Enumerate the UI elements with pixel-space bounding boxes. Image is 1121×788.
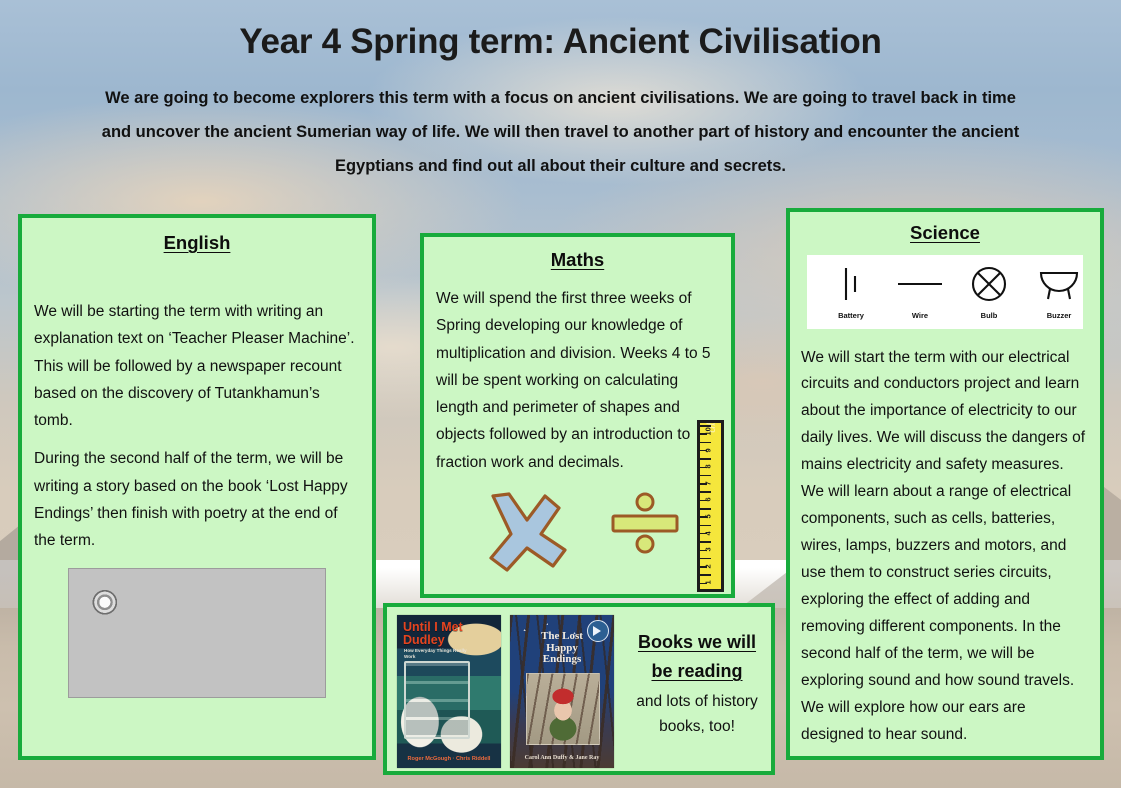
panel-english: English We will be starting the term wit… [18,214,376,760]
poster-header: Year 4 Spring term: Ancient Civilisation… [0,0,1121,183]
ruler-number: 3 [704,548,713,552]
circuit-symbols-diagram: Battery Wire Bulb Buzzer [807,255,1083,329]
panel-science-body: We will start the term with our electric… [801,345,1091,750]
ruler-number: 6 [704,498,713,502]
bulb-label: Bulb [959,311,1019,320]
book-lost-title-the: The [541,630,559,642]
book-lost-title-line3: Endings [543,653,582,665]
ruler-number: 5 [704,514,713,518]
ruler-number: 7 [704,481,713,485]
book-lost-title-line2: Happy [546,642,578,654]
ruler-major-tick [700,475,711,477]
battery-symbol: Battery [821,265,881,308]
panel-english-body: We will be starting the term with writin… [34,298,360,554]
book-lost-title: The Lost Happy Endings [526,631,598,666]
intro-paragraph: We are going to become explorers this te… [96,82,1026,183]
books-subtitle-line2: books, too! [659,718,735,735]
buzzer-symbol: Buzzer [1029,265,1089,308]
ruler-number: 4 [704,531,713,535]
division-icon [609,492,681,554]
book-dudley-authors: Roger McGough · Chris Riddell [397,756,501,762]
books-subtitle: and lots of history books, too! [631,689,763,739]
book-dudley-title: Until I Met Dudley [403,621,495,647]
english-paragraph-1: We will be starting the term with writin… [34,298,360,434]
maths-icon-group [424,468,731,588]
ruler-major-tick [700,508,711,510]
science-paragraph-1: We will start the term with our electric… [801,345,1091,750]
book-lost-illustration [526,673,600,745]
english-paragraph-2: During the second half of the term, we w… [34,445,360,554]
panel-books: Until I Met Dudley How Everyday Things R… [383,603,775,775]
ruler-major-tick [700,491,711,493]
maths-paragraph-1: We will spend the first three weeks of S… [436,285,721,476]
wire-symbol: Wire [890,265,950,308]
page-title: Year 4 Spring term: Ancient Civilisation [0,22,1121,62]
ruler-major-tick [700,541,711,543]
panel-english-title: English [22,232,372,254]
ruler-number: 2 [704,564,713,568]
panel-maths-body: We will spend the first three weeks of S… [436,285,721,476]
multiplication-icon [479,490,567,574]
panel-maths-title: Maths [424,249,731,271]
books-text-block: Books we will be reading and lots of his… [623,615,763,763]
ruler-number: 1 [704,581,713,585]
book-cover-until-i-met-dudley: Until I Met Dudley How Everyday Things R… [397,615,501,768]
book-lost-title-line1: Lost [562,630,583,642]
bulb-symbol: Bulb [959,265,1019,308]
ruler-major-tick [700,525,711,527]
panel-science-title: Science [790,222,1100,244]
ruler-major-tick [700,574,711,576]
ruler-number: 8 [704,465,713,469]
book-dudley-fridge-shelf [404,661,470,739]
ruler-icon: teacles design 10987654321 [697,420,724,592]
book-cover-the-lost-happy-endings: The Lost Happy Endings Carol Ann Duffy &… [510,615,614,768]
books-heading: Books we will be reading [631,628,763,686]
machine-gears-photo [68,568,326,698]
buzzer-label: Buzzer [1029,311,1089,320]
books-heading-line2: be reading [651,661,742,681]
ruler-number: 10 [704,427,713,435]
panel-maths: Maths We will spend the first three week… [420,233,735,598]
ruler-major-tick [700,442,711,444]
panel-science: Science Battery Wire Bulb [786,208,1104,760]
ruler-major-tick [700,458,711,460]
books-subtitle-line1: and lots of history [636,693,757,710]
book-lost-authors: Carol Ann Duffy & Jane Ray [510,755,614,761]
books-heading-line1: Books we will [638,632,756,652]
wire-label: Wire [890,311,950,320]
book-dudley-subtitle: How Everyday Things Really Work [404,648,476,659]
battery-label: Battery [821,311,881,320]
ruler-number: 9 [704,448,713,452]
ruler-major-tick [700,558,711,560]
